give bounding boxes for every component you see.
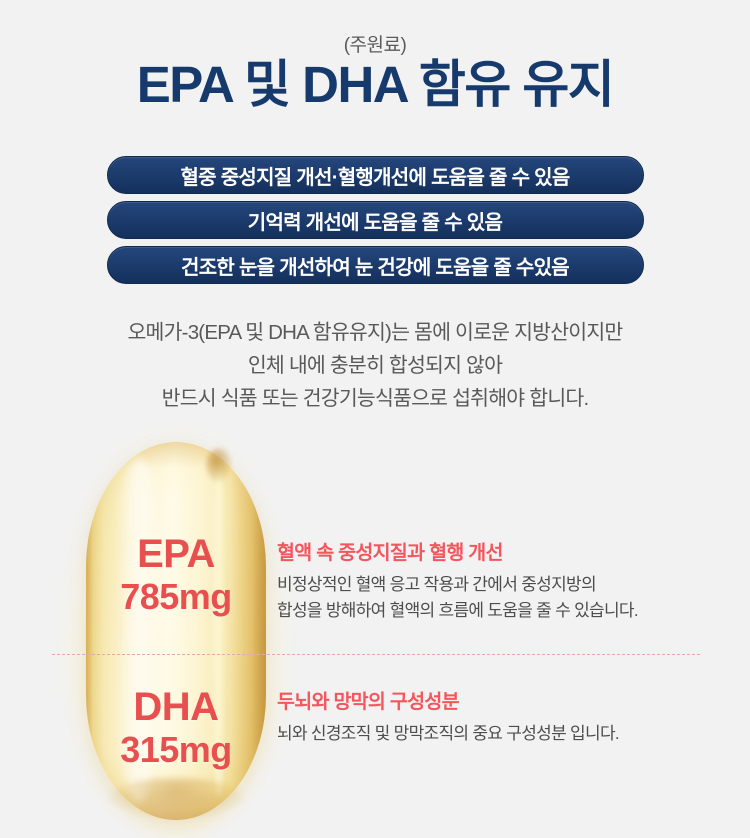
capsule-epa-name: EPA (86, 534, 266, 574)
intro-line-1: 인체 내에 충분히 합성되지 않아 (0, 349, 750, 382)
capsule-bottom-shadow (108, 778, 244, 818)
claim-pill-0: 혈중 중성지질 개선·혈행개선에 도움을 줄 수 있음 (107, 156, 644, 194)
capsule-notch (206, 448, 232, 482)
page-subtitle: (주원료) (0, 30, 750, 57)
benefit-body-1: 뇌와 신경조직 및 망막조직의 중요 구성성분 입니다. (277, 721, 707, 747)
benefit-heading-0: 혈액 속 중성지질과 혈행 개선 (277, 536, 707, 565)
benefit-body-0-line-1: 합성을 방해하여 혈액의 흐름에 도움을 줄 수 있습니다. (277, 598, 707, 624)
capsule-label-epa: EPA 785mg (86, 534, 266, 615)
benefit-body-0: 비정상적인 혈액 응고 작용과 간에서 중성지방의 합성을 방해하여 혈액의 흐… (277, 572, 707, 625)
benefit-heading-1: 두뇌와 망막의 구성성분 (277, 685, 707, 714)
intro-paragraph: 오메가-3(EPA 및 DHA 함유유지)는 몸에 이로운 지방산이지만 인체 … (0, 316, 750, 416)
capsule-epa-amount: 785mg (86, 579, 266, 615)
benefit-body-1-line-0: 뇌와 신경조직 및 망막조직의 중요 구성성분 입니다. (277, 721, 707, 747)
benefit-block-0: 혈액 속 중성지질과 혈행 개선 비정상적인 혈액 응고 작용과 간에서 중성지… (277, 536, 707, 625)
capsule-body: EPA 785mg DHA 315mg (86, 442, 266, 820)
claim-pill-1: 기억력 개선에 도움을 줄 수 있음 (107, 201, 644, 239)
benefit-body-0-line-0: 비정상적인 혈액 응고 작용과 간에서 중성지방의 (277, 572, 707, 598)
claim-pill-2: 건조한 눈을 개선하여 눈 건강에 도움을 줄 수있음 (107, 246, 644, 284)
intro-line-0: 오메가-3(EPA 및 DHA 함유유지)는 몸에 이로운 지방산이지만 (0, 316, 750, 349)
section-divider (52, 654, 700, 655)
claim-pill-list: 혈중 중성지질 개선·혈행개선에 도움을 줄 수 있음 기억력 개선에 도움을 … (0, 156, 750, 284)
capsule-image: EPA 785mg DHA 315mg (86, 442, 266, 820)
page-title: EPA 및 DHA 함유 유지 (0, 56, 750, 115)
benefit-block-1: 두뇌와 망막의 구성성분 뇌와 신경조직 및 망막조직의 중요 구성성분 입니다… (277, 685, 707, 747)
capsule-label-dha: DHA 315mg (86, 687, 266, 768)
product-info-page: (주원료) EPA 및 DHA 함유 유지 혈중 중성지질 개선·혈행개선에 도… (0, 0, 750, 838)
capsule-dha-amount: 315mg (86, 732, 266, 768)
intro-line-2: 반드시 식품 또는 건강기능식품으로 섭취해야 합니다. (0, 382, 750, 415)
capsule-dha-name: DHA (86, 687, 266, 727)
